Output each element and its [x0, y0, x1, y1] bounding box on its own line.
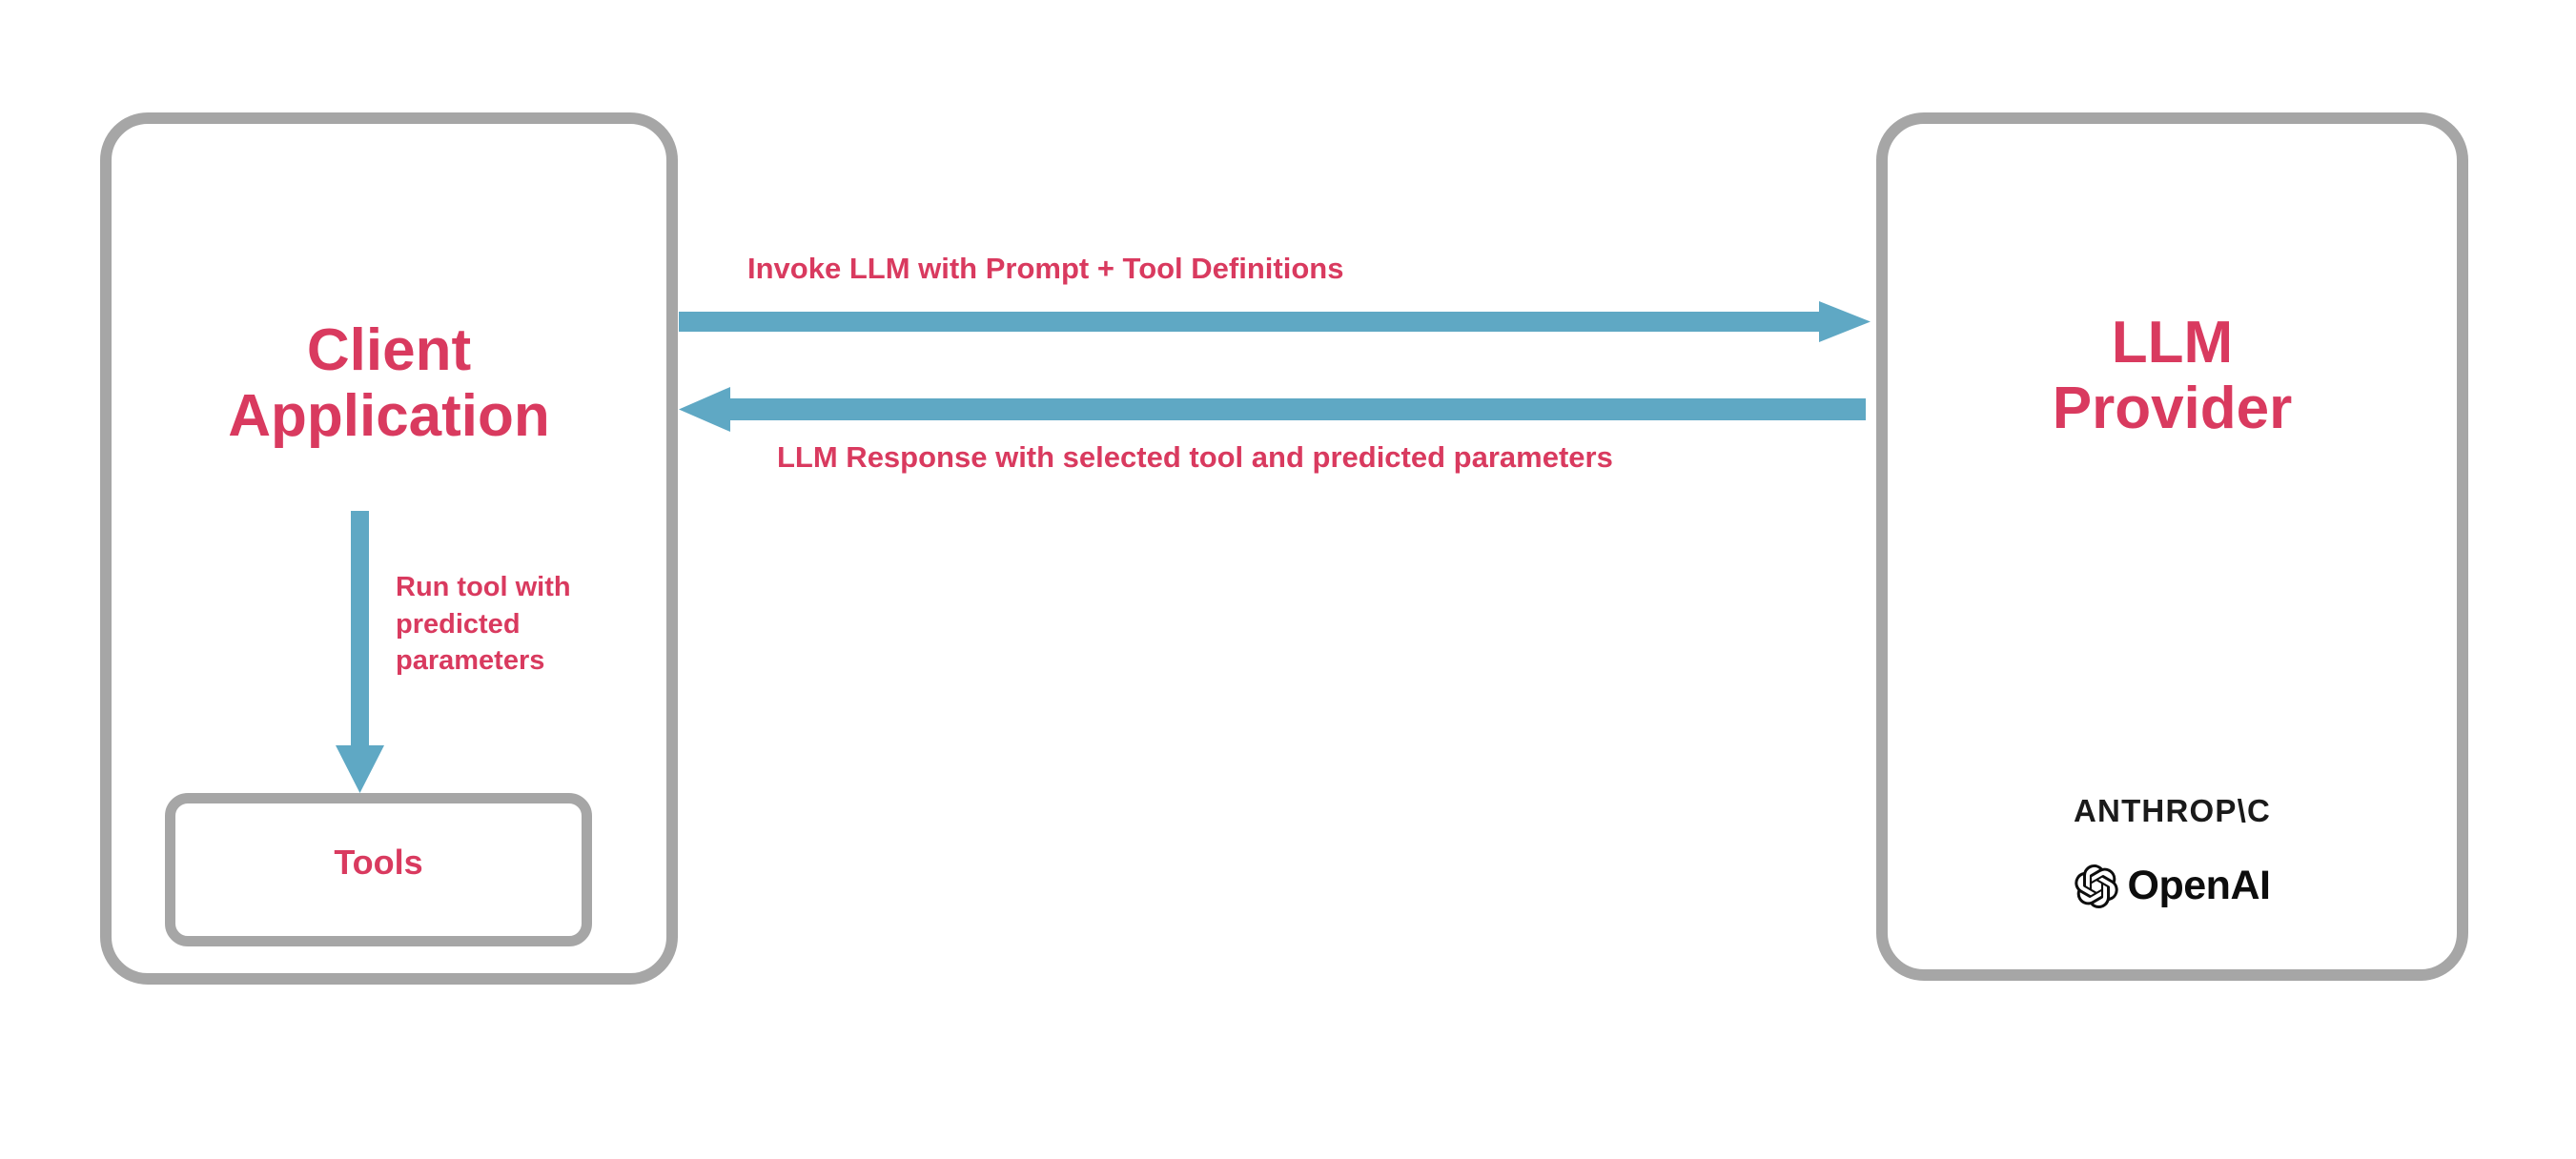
response-arrow: [679, 387, 1871, 444]
response-arrow-label: LLM Response with selected tool and pred…: [777, 438, 1613, 477]
openai-wordmark: OpenAI: [2128, 863, 2271, 909]
client-application-label: Client Application: [114, 317, 664, 450]
diagram-canvas: Client Application Tools LLM Provider AN…: [0, 0, 2576, 1159]
llm-provider-label: LLM Provider: [1888, 310, 2457, 442]
openai-logo: OpenAI: [1888, 863, 2457, 909]
run-tool-arrow-label: Run tool with predicted parameters: [396, 569, 653, 680]
run-tool-arrow: [336, 511, 402, 797]
openai-knot-icon: [2075, 864, 2118, 908]
invoke-arrow: [679, 301, 1874, 358]
llm-provider-node: [1876, 112, 2468, 981]
tools-label: Tools: [165, 844, 592, 882]
invoke-arrow-label: Invoke LLM with Prompt + Tool Definition…: [747, 250, 1343, 288]
anthropic-logo: ANTHROP\C: [1888, 793, 2457, 829]
